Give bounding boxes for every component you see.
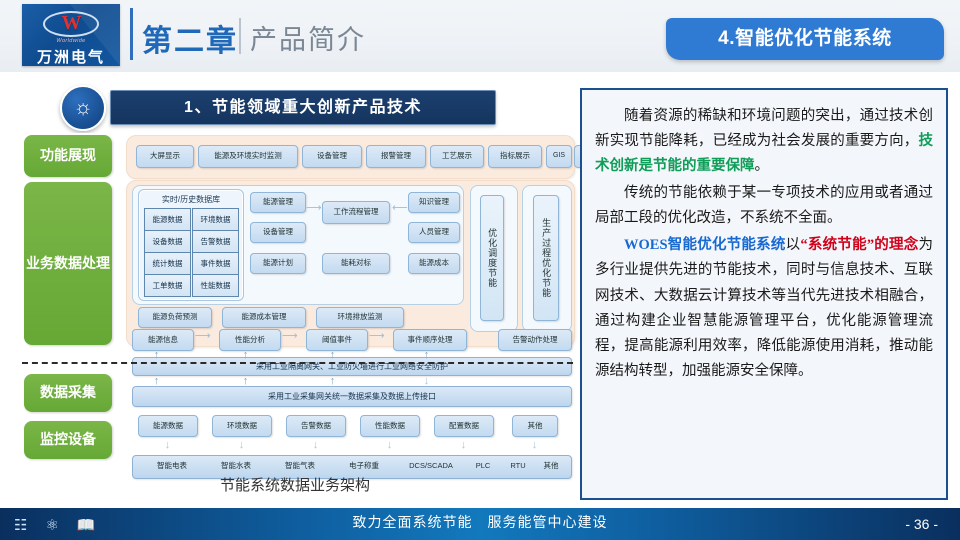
data-box-5[interactable]: 其他 xyxy=(512,415,558,437)
diagram-caption: 节能系统数据业务架构 xyxy=(130,474,460,495)
business-r2-box-2[interactable]: 环境排放监测 xyxy=(316,307,404,328)
workflow-right-label-0: 知识管理 xyxy=(419,198,449,207)
process-box-0[interactable]: 能源信息 xyxy=(132,329,194,351)
arrow-right-to-workflow: ⟶ xyxy=(306,203,322,214)
db-cell-label-2: 设备数据 xyxy=(153,236,183,247)
layer-label-business: 业务数据处理 xyxy=(26,255,110,273)
logo-company-name: 万洲电气 xyxy=(22,46,120,66)
section-title-label: 1、节能领域重大创新产品技术 xyxy=(111,91,495,124)
db-cell-label-7: 性能数据 xyxy=(201,280,231,291)
section-badge-label: 4.智能优化节能系统 xyxy=(666,18,944,60)
layer-separator-dashed xyxy=(22,362,573,364)
layer-chip-business: 业务数据处理 xyxy=(24,182,112,345)
desc-p1-b: 。 xyxy=(755,158,770,174)
vertical-label-0: 优化调度节能 xyxy=(487,228,497,288)
process-label-1: 性能分析 xyxy=(235,336,265,345)
desc-p3-b: 以 xyxy=(786,237,801,253)
footer-slogan: 致力全面系统节能 服务能管中心建设 xyxy=(0,508,960,540)
dev-arrow-4: ↓ xyxy=(459,440,468,451)
company-logo: W Worldwide 万洲电气 xyxy=(22,4,120,66)
function-box-1[interactable]: 能源及环境实时监测 xyxy=(198,145,298,168)
db-cell-label-6: 工单数据 xyxy=(153,280,183,291)
business-r2-label-2: 环境排放监测 xyxy=(338,313,383,322)
function-label-5: 指标展示 xyxy=(500,152,530,161)
data-label-3: 性能数据 xyxy=(375,422,405,431)
dev-arrow-0: ↓ xyxy=(163,440,172,451)
dev-arrow-2: ↓ xyxy=(311,440,320,451)
database-group: 实时/历史数据库 能源数据 环境数据 设备数据 告警数据 统计数据 事件数据 工… xyxy=(138,189,244,301)
description-paragraph-2: 传统的节能依赖于某一专项技术的应用或者通过局部工段的优化改造，不系统不全面。 xyxy=(595,181,933,231)
chapter-subtitle: 产品简介 xyxy=(250,18,366,57)
process-box-2[interactable]: 阈值事件 xyxy=(306,329,368,351)
function-label-2: 设备管理 xyxy=(317,152,347,161)
architecture-diagram: 功能展现 业务数据处理 数据采集 监控设备 大屏显示 能源及环境实时监测 设备管… xyxy=(22,133,573,481)
vertical-box-0[interactable]: 优化调度节能 xyxy=(480,195,504,321)
db-cell-6[interactable]: 工单数据 xyxy=(144,274,191,297)
process-label-0: 能源信息 xyxy=(148,336,178,345)
hand-idea-glyph: ☼ xyxy=(62,87,104,129)
process-arrow-0: ⟶ xyxy=(195,331,211,342)
function-box-4[interactable]: 工艺展示 xyxy=(430,145,484,168)
gw-arrow-1: ↑ xyxy=(241,376,250,387)
device-box-6[interactable]: RTU xyxy=(502,458,534,474)
data-label-4: 配置数据 xyxy=(449,422,479,431)
logo-w-mark: W xyxy=(22,12,120,34)
workflow-center-box[interactable]: 工作流程管理 xyxy=(322,201,390,224)
sec-arrow-3: ↑ xyxy=(422,350,431,361)
business-r1-box-0[interactable]: 能源计划 xyxy=(250,253,306,274)
gateway-bar-label: 采用工业采集网关统一数据采集及数据上传接口 xyxy=(268,391,436,402)
dev-arrow-5: ↓ xyxy=(530,440,539,451)
function-label-3: 报警管理 xyxy=(381,152,411,161)
process-arrow-1: ⟶ xyxy=(282,331,298,342)
data-box-0[interactable]: 能源数据 xyxy=(138,415,198,437)
layer-chip-device: 监控设备 xyxy=(24,421,112,459)
gw-arrow-0: ↑ xyxy=(152,376,161,387)
db-cell-4[interactable]: 统计数据 xyxy=(144,252,191,275)
header-divider xyxy=(130,8,133,60)
process-label-2: 阈值事件 xyxy=(322,336,352,345)
device-box-4[interactable]: DCS/SCADA xyxy=(398,458,464,474)
data-label-5: 其他 xyxy=(528,422,543,431)
sec-arrow-1: ↑ xyxy=(241,350,250,361)
db-cell-label-3: 告警数据 xyxy=(201,236,231,247)
process-box-4[interactable]: 告警动作处理 xyxy=(498,329,572,351)
db-cell-5[interactable]: 事件数据 xyxy=(192,252,239,275)
business-r2-box-0[interactable]: 能源负荷预测 xyxy=(138,307,212,328)
gw-arrow-2: ↑ xyxy=(328,376,337,387)
db-cell-2[interactable]: 设备数据 xyxy=(144,230,191,253)
workflow-left-box-1[interactable]: 设备管理 xyxy=(250,222,306,243)
description-paragraph-3: WOES智能优化节能系统以“系统节能”的理念为多行业提供先进的节能技术，同时与信… xyxy=(595,233,933,383)
device-box-7[interactable]: 其他 xyxy=(534,458,568,474)
layer-chip-collect: 数据采集 xyxy=(24,374,112,412)
function-box-3[interactable]: 报警管理 xyxy=(366,145,426,168)
data-box-1[interactable]: 环境数据 xyxy=(212,415,272,437)
workflow-right-box-0[interactable]: 知识管理 xyxy=(408,192,460,213)
device-label-1: 智能水表 xyxy=(221,462,251,471)
slide-root: W Worldwide 万洲电气 第二章 产品简介 4.智能优化节能系统 ☼ 1… xyxy=(0,0,960,540)
db-cell-1[interactable]: 环境数据 xyxy=(192,208,239,231)
business-r2-label-1: 能源成本管理 xyxy=(242,313,287,322)
workflow-right-label-1: 人员管理 xyxy=(419,228,449,237)
function-box-6[interactable]: GIS xyxy=(546,145,572,168)
business-r1-box-1[interactable]: 能耗对标 xyxy=(322,253,390,274)
data-label-0: 能源数据 xyxy=(153,422,183,431)
device-box-2[interactable]: 智能气表 xyxy=(270,458,330,474)
database-title: 实时/历史数据库 xyxy=(139,194,243,205)
device-label-7: 其他 xyxy=(544,462,559,471)
business-r1-box-2[interactable]: 能源成本 xyxy=(408,253,460,274)
business-r1-label-2: 能源成本 xyxy=(419,259,449,268)
function-box-2[interactable]: 设备管理 xyxy=(302,145,362,168)
process-box-1[interactable]: 性能分析 xyxy=(219,329,281,351)
layer-label-function: 功能展现 xyxy=(40,147,96,165)
device-box-0[interactable]: 智能电表 xyxy=(142,458,202,474)
sec-arrow-2: ↑ xyxy=(328,350,337,361)
device-box-1[interactable]: 智能水表 xyxy=(206,458,266,474)
db-cell-label-1: 环境数据 xyxy=(201,214,231,225)
workflow-right-box-1[interactable]: 人员管理 xyxy=(408,222,460,243)
workflow-left-box-0[interactable]: 能源管理 xyxy=(250,192,306,213)
process-arrow-2: ⟶ xyxy=(369,331,385,342)
function-label-6: GIS xyxy=(553,152,565,160)
business-r1-label-0: 能源计划 xyxy=(263,259,293,268)
chapter-title: 第二章 xyxy=(142,16,238,60)
business-r2-label-0: 能源负荷预测 xyxy=(153,313,198,322)
device-label-0: 智能电表 xyxy=(157,462,187,471)
layer-label-collect: 数据采集 xyxy=(40,384,96,402)
db-cell-7[interactable]: 性能数据 xyxy=(192,274,239,297)
description-inner: 随着资源的稀缺和环境问题的突出，通过技术创新实现节能降耗，已经成为社会发展的重要… xyxy=(582,90,946,384)
desc-p3-product: WOES智能优化节能系统 xyxy=(624,237,786,253)
db-cell-0[interactable]: 能源数据 xyxy=(144,208,191,231)
desc-p1-a: 随着资源的稀缺和环境问题的突出，通过技术创新实现节能降耗，已经成为社会发展的重要… xyxy=(595,108,933,149)
device-label-3: 电子称重 xyxy=(349,462,379,471)
function-box-5[interactable]: 指标展示 xyxy=(488,145,542,168)
description-panel: 随着资源的稀缺和环境问题的突出，通过技术创新实现节能降耗，已经成为社会发展的重要… xyxy=(580,88,948,500)
data-label-2: 告警数据 xyxy=(301,422,331,431)
device-label-6: RTU xyxy=(510,462,525,471)
gw-arrow-3: ↓ xyxy=(422,376,431,387)
db-cell-label-4: 统计数据 xyxy=(153,258,183,269)
device-label-2: 智能气表 xyxy=(285,462,315,471)
data-label-1: 环境数据 xyxy=(227,422,257,431)
logo-worldwide-text: Worldwide xyxy=(22,38,120,44)
business-r2-box-1[interactable]: 能源成本管理 xyxy=(222,307,306,328)
security-bar: 采用工业隔离网关、工业防火墙进行工业网络安全防护 xyxy=(132,357,572,376)
workflow-left-label-1: 设备管理 xyxy=(263,228,293,237)
layer-chip-function: 功能展现 xyxy=(24,135,112,177)
workflow-left-label-0: 能源管理 xyxy=(263,198,293,207)
process-box-3[interactable]: 事件顺序处理 xyxy=(393,329,467,351)
function-label-1: 能源及环境实时监测 xyxy=(214,152,282,161)
arrow-left-to-workflow: ⟵ xyxy=(392,203,408,214)
device-box-5[interactable]: PLC xyxy=(466,458,500,474)
device-label-4: DCS/SCADA xyxy=(409,462,453,471)
function-label-0: 大屏显示 xyxy=(150,152,180,161)
workflow-center-label: 工作流程管理 xyxy=(334,208,379,217)
device-label-5: PLC xyxy=(476,462,491,471)
vertical-label-1: 生产过程优化节能 xyxy=(541,218,551,298)
description-paragraph-1: 随着资源的稀缺和环境问题的突出，通过技术创新实现节能降耗，已经成为社会发展的重要… xyxy=(595,104,933,179)
data-box-4[interactable]: 配置数据 xyxy=(434,415,494,437)
db-cell-label-0: 能源数据 xyxy=(153,214,183,225)
desc-p3-d: 为多行业提供先进的节能技术，同时与信息技术、互联网技术、大数据云计算技术等当代先… xyxy=(595,237,933,378)
hand-idea-icon: ☼ xyxy=(60,85,106,131)
page-number: - 36 - xyxy=(905,508,938,540)
process-label-3: 事件顺序处理 xyxy=(408,336,453,345)
dev-arrow-3: ↓ xyxy=(385,440,394,451)
section-title-bar: 1、节能领域重大创新产品技术 xyxy=(110,90,496,125)
gateway-bar: 采用工业采集网关统一数据采集及数据上传接口 xyxy=(132,386,572,407)
vertical-box-1[interactable]: 生产过程优化节能 xyxy=(533,195,559,321)
process-label-4: 告警动作处理 xyxy=(513,336,558,345)
sec-arrow-0: ↑ xyxy=(152,350,161,361)
desc-p3-concept: “系统节能”的理念 xyxy=(800,237,918,253)
business-r1-label-1: 能耗对标 xyxy=(341,259,371,268)
function-box-0[interactable]: 大屏显示 xyxy=(136,145,194,168)
db-cell-label-5: 事件数据 xyxy=(201,258,231,269)
data-box-2[interactable]: 告警数据 xyxy=(286,415,346,437)
data-box-3[interactable]: 性能数据 xyxy=(360,415,420,437)
layer-label-device: 监控设备 xyxy=(40,431,96,449)
device-box-3[interactable]: 电子称重 xyxy=(334,458,394,474)
section-badge: 4.智能优化节能系统 xyxy=(666,18,944,60)
db-cell-3[interactable]: 告警数据 xyxy=(192,230,239,253)
function-label-4: 工艺展示 xyxy=(442,152,472,161)
header-vertical-bar xyxy=(239,18,241,54)
dev-arrow-1: ↓ xyxy=(237,440,246,451)
